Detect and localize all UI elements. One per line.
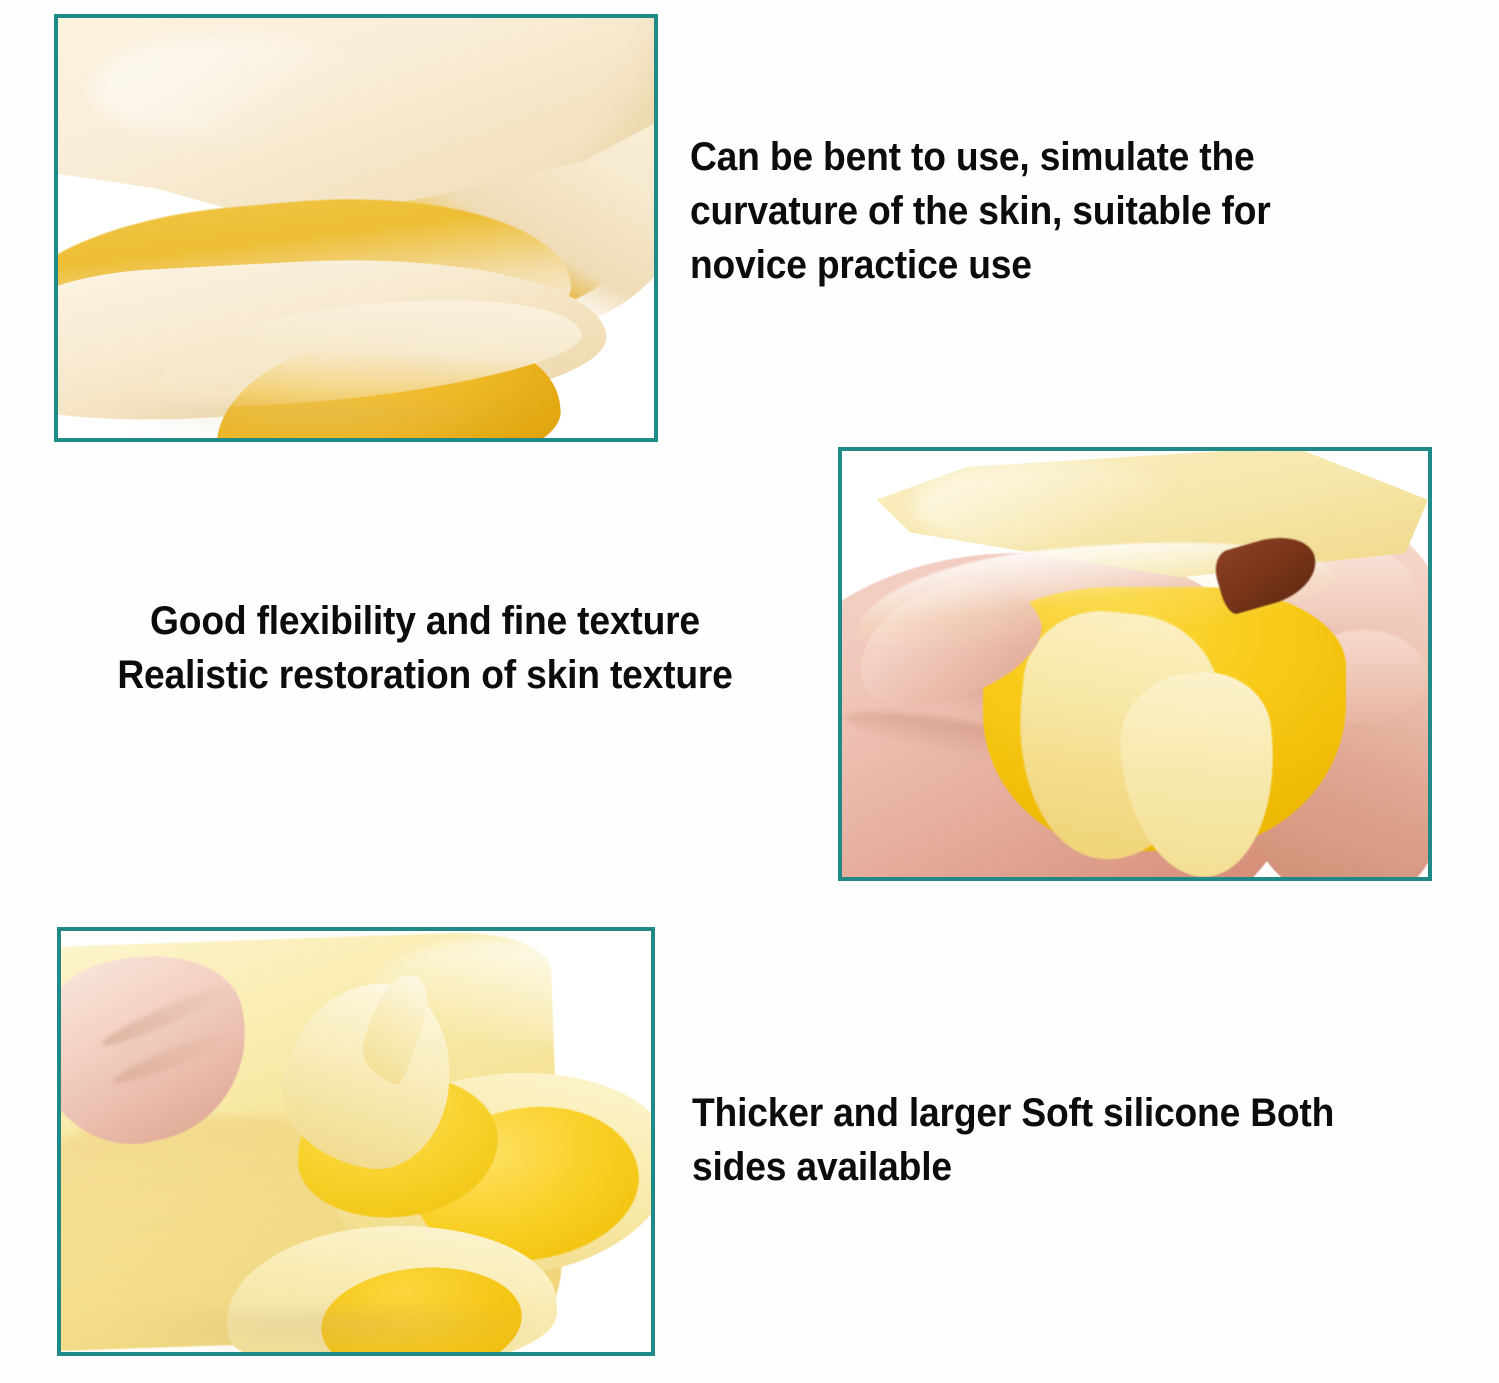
caption-flexibility-line-1: Good flexibility and fine texture [72,594,779,648]
caption-bendable: Can be bent to use, simulate the curvatu… [690,130,1378,292]
infographic-stage: Can be bent to use, simulate the curvatu… [0,0,1499,1383]
sheet-highlight [368,939,628,1048]
caption-flexibility-line-2: Realistic restoration of skin texture [72,648,779,702]
caption-thickness-line-2: sides available [692,1140,1408,1194]
product-image-rolled-sheet [57,927,655,1356]
photo-hand-squeeze [842,451,1428,877]
sheet-drop-shadow [70,404,571,438]
caption-thickness-line-1: Thicker and larger Soft silicone Both [692,1086,1408,1140]
sheet-drop-shadow [85,1310,581,1352]
caption-flexibility: Good flexibility and fine texture Realis… [72,594,779,702]
photo-bent-sheet [58,18,654,438]
caption-thickness: Thicker and larger Soft silicone Both si… [692,1086,1408,1194]
product-image-bent-sheet [54,14,658,442]
pad-highlight [912,460,1193,554]
caption-bendable-line-1: Can be bent to use, simulate the [690,130,1378,184]
caption-bendable-line-3: novice practice use [690,238,1378,292]
product-image-hand-squeeze [838,447,1432,881]
sheet-highlight [94,35,404,144]
caption-bendable-line-2: curvature of the skin, suitable for [690,184,1378,238]
photo-rolled-sheet [61,931,651,1352]
